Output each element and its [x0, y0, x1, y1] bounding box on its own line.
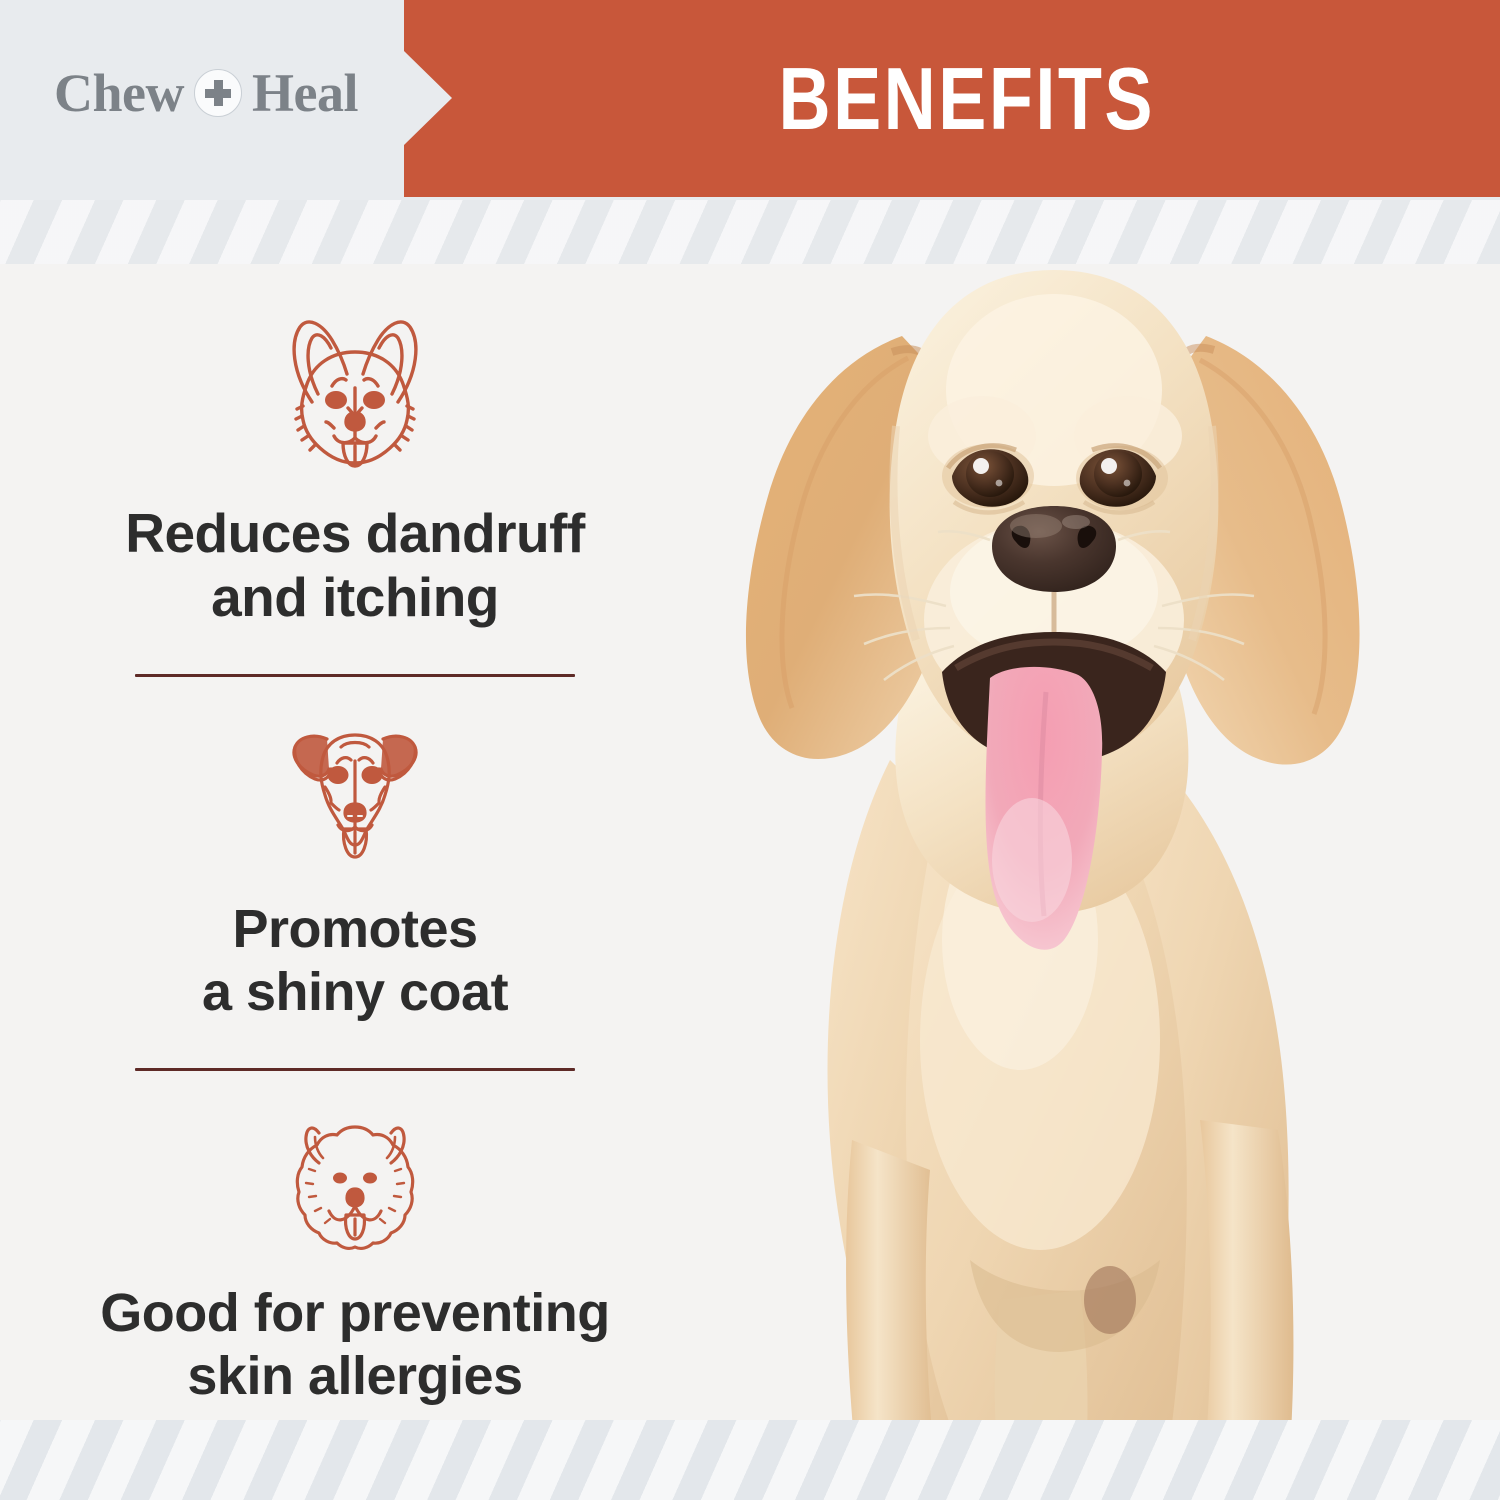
header-bar: Chew Heal BENEFITS — [0, 0, 1500, 200]
benefit-label-1: Reduces dandruff and itching — [125, 501, 585, 630]
benefit-item-3: Good for preventing skin allergies — [30, 1111, 680, 1408]
terrier-dog-face-icon — [275, 717, 435, 872]
fluffy-dog-face-icon — [285, 1111, 425, 1256]
benefits-list: Reduces dandruff and itching — [30, 310, 680, 1408]
benefits-banner: BENEFITS — [404, 0, 1500, 197]
benefit-item-2: Promotes a shiny coat — [30, 717, 680, 1024]
benefit-divider-2 — [135, 1068, 575, 1071]
logo-text-chew: Chew — [54, 66, 184, 120]
benefit-label-2: Promotes a shiny coat — [202, 898, 508, 1024]
stripe-band-bottom — [0, 1420, 1500, 1500]
brand-logo: Chew Heal — [54, 66, 358, 120]
corgi-dog-face-icon — [270, 310, 440, 475]
main-content: Reduces dandruff and itching — [0, 200, 1500, 1500]
benefit-divider-1 — [135, 674, 575, 677]
plus-circle-icon — [194, 69, 242, 117]
benefits-infographic: Chew Heal BENEFITS — [0, 0, 1500, 1500]
stripe-pattern — [0, 1420, 1500, 1500]
yellow-labrador-puppy-photo — [640, 240, 1500, 1480]
benefit-item-1: Reduces dandruff and itching — [30, 310, 680, 630]
logo-text-heal: Heal — [252, 66, 358, 120]
benefit-label-3: Good for preventing skin allergies — [100, 1282, 610, 1408]
page-title: BENEFITS — [503, 48, 1402, 150]
